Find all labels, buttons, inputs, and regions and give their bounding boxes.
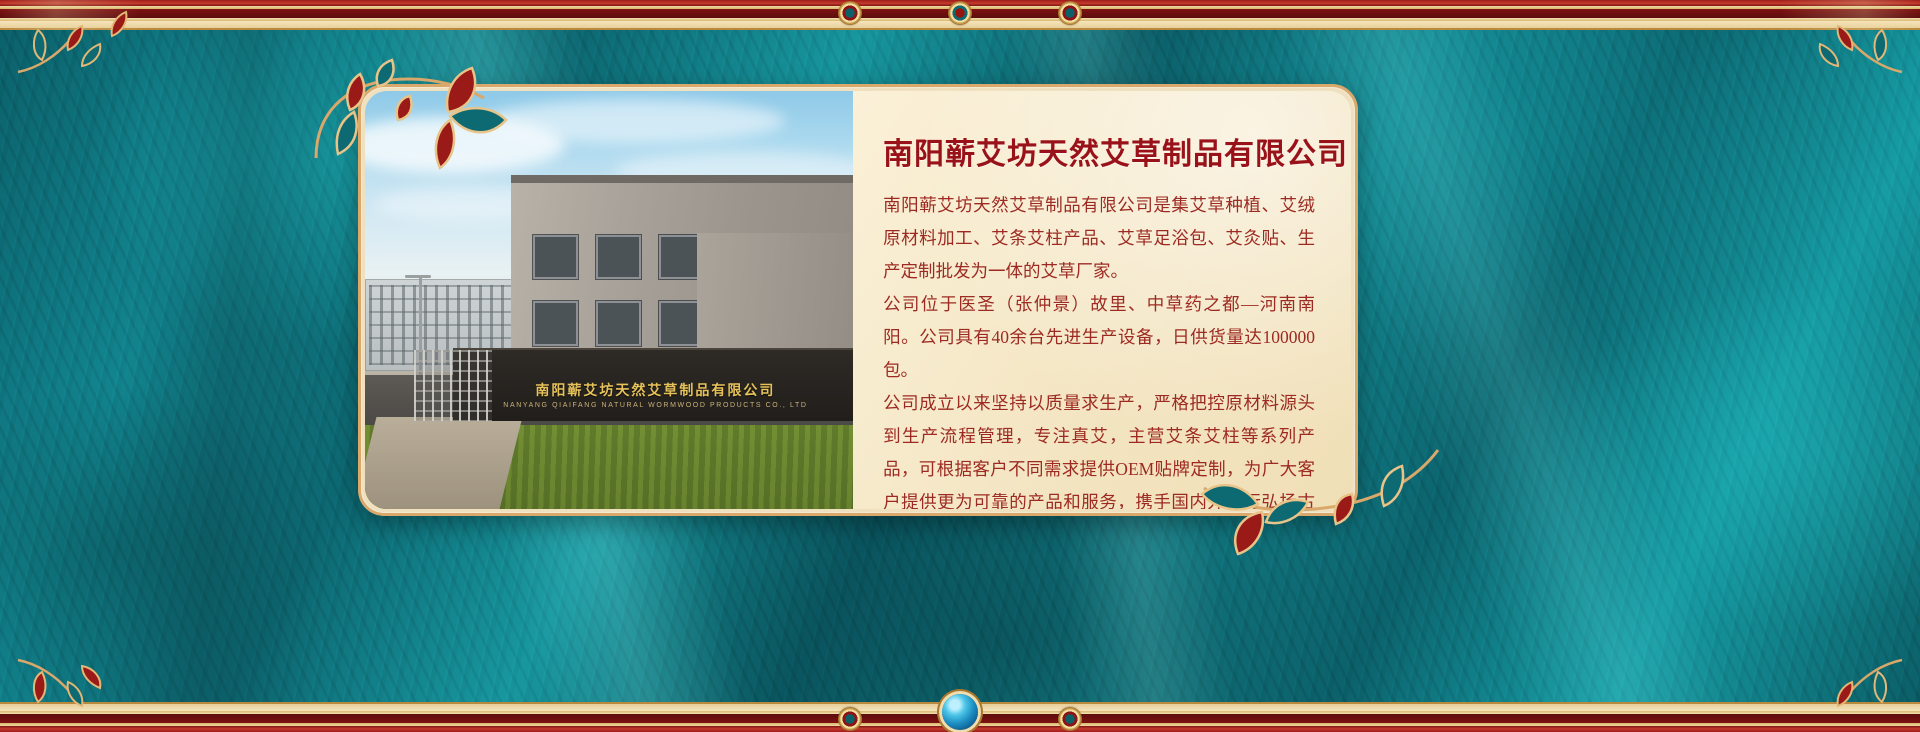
leaf-vine-ornament	[1788, 6, 1908, 80]
leaf-vine-ornament	[12, 6, 132, 80]
gate-sign-english: NANYANG QIAIFANG NATURAL WORMWOOD PRODUC…	[467, 402, 843, 413]
company-paragraph: 南阳蕲艾坊天然艾草制品有限公司是集艾草种植、艾绒原材料加工、艾条艾柱产品、艾草足…	[883, 189, 1315, 288]
factory-photo: 南阳蕲艾坊天然艾草制品有限公司 NANYANG QIAIFANG NATURAL…	[365, 91, 853, 509]
circle-medallion-ornament	[839, 708, 861, 730]
circle-medallion-ornament	[1059, 708, 1081, 730]
company-title: 南阳蕲艾坊天然艾草制品有限公司	[883, 129, 1315, 173]
leaf-vine-ornament	[12, 652, 132, 726]
company-paragraph: 公司位于医圣（张仲景）故里、中草药之都—河南南阳。公司具有40余台先进生产设备，…	[883, 288, 1315, 387]
gate-sign-chinese: 南阳蕲艾坊天然艾草制品有限公司	[467, 380, 843, 396]
company-intro-card: 南阳蕲艾坊天然艾草制品有限公司 NANYANG QIAIFANG NATURAL…	[358, 84, 1358, 516]
leaf-vine-ornament	[1788, 652, 1908, 726]
company-description: 南阳蕲艾坊天然艾草制品有限公司是集艾草种植、艾绒原材料加工、艾条艾柱产品、艾草足…	[883, 189, 1315, 509]
circle-medallion-ornament	[839, 2, 861, 24]
circle-medallion-ornament	[949, 2, 971, 24]
company-paragraph: 公司成立以来坚持以质量求生产，严格把控原材料源头到生产流程管理，专注真艾，主营艾…	[883, 387, 1315, 509]
top-medallion-row	[0, 2, 1920, 28]
circle-medallion-ornament	[1059, 2, 1081, 24]
company-text-panel: 南阳蕲艾坊天然艾草制品有限公司 南阳蕲艾坊天然艾草制品有限公司是集艾草种植、艾绒…	[853, 91, 1351, 509]
top-decorative-border	[0, 0, 1920, 30]
decorative-blue-orb	[942, 694, 978, 730]
